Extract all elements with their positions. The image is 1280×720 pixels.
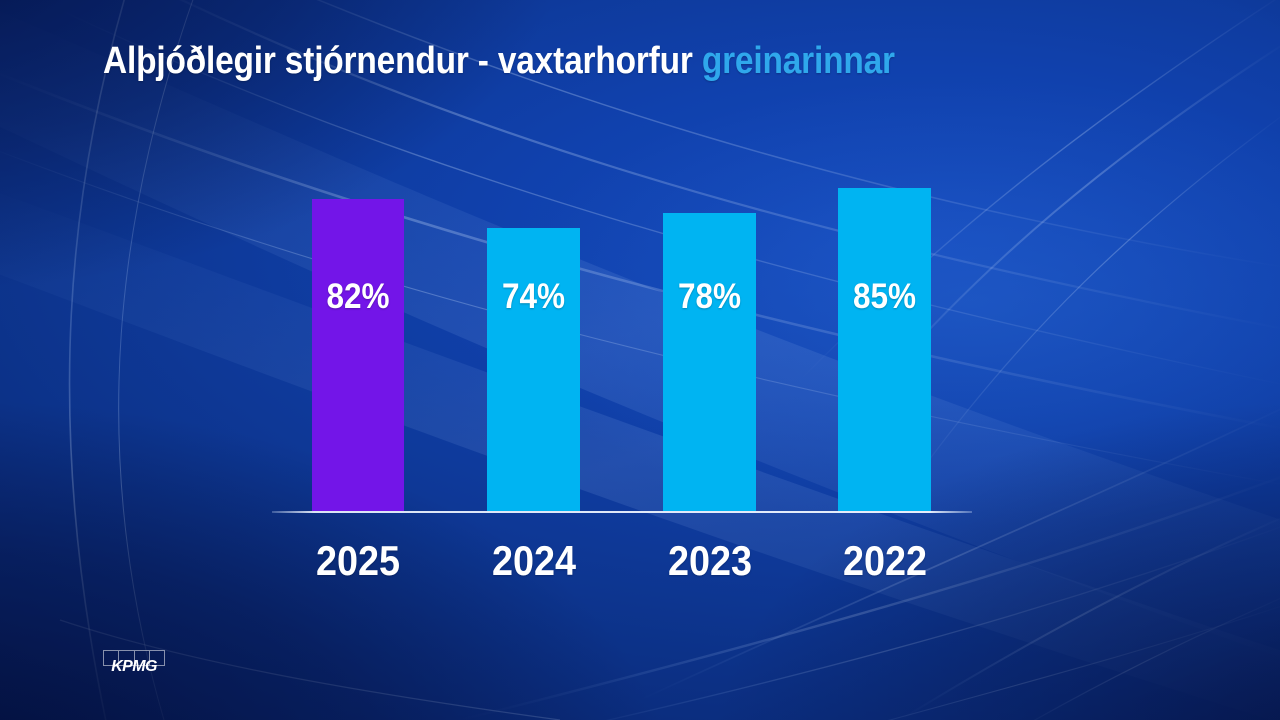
bar-2024: 74% <box>487 228 580 511</box>
bar-2023: 78% <box>663 213 756 511</box>
bar-2022: 85% <box>838 188 931 511</box>
bar-2025: 82% <box>312 199 404 511</box>
bar-value-2024: 74% <box>492 279 576 314</box>
bar-chart: 82% 74% 78% 85% 2025 2024 2023 2022 <box>0 0 1280 720</box>
bar-value-2025: 82% <box>317 279 400 314</box>
category-label-2025: 2025 <box>304 540 412 582</box>
bar-value-2022: 85% <box>843 279 927 314</box>
bar-value-2023: 78% <box>668 279 752 314</box>
kpmg-logo: KPMG <box>103 650 165 680</box>
category-label-2024: 2024 <box>480 540 588 582</box>
chart-axis-line <box>272 511 972 513</box>
kpmg-wordmark: KPMG <box>103 659 165 675</box>
slide-canvas: Alþjóðlegir stjórnendur - vaxtarhorfur g… <box>0 0 1280 720</box>
category-label-2022: 2022 <box>831 540 939 582</box>
category-label-2023: 2023 <box>656 540 764 582</box>
